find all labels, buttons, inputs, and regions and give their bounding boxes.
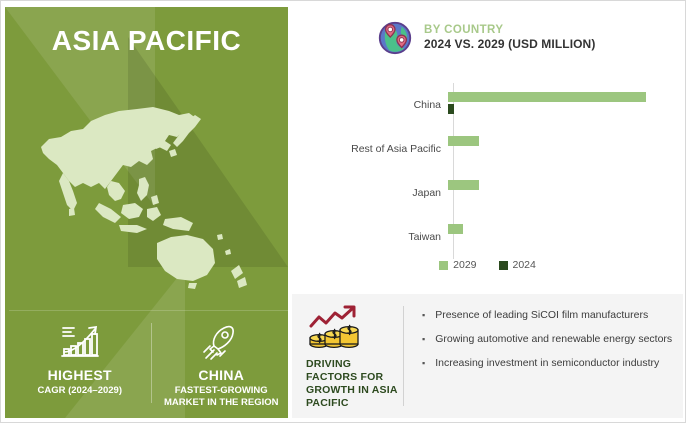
list-item-text: Increasing investment in semiconductor i…	[435, 356, 659, 370]
legend-item-2029[interactable]: 2029	[439, 259, 476, 271]
chart-header: BY COUNTRY 2024 VS. 2029 (USD MILLION)	[376, 19, 595, 57]
chart-legend: 2029 2024	[292, 259, 683, 271]
list-item: ▪ Growing automotive and renewable energ…	[422, 332, 673, 346]
bar-2029-japan	[448, 180, 479, 190]
bar-chart-growth-icon	[57, 321, 103, 363]
driving-factors-list: ▪ Presence of leading SiCOI film manufac…	[404, 294, 683, 418]
country-bar-chart: China Rest of Asia Pacific Japan	[292, 79, 683, 279]
bar-2029-china	[448, 92, 646, 102]
bar-track	[447, 215, 673, 259]
chart-panel: BY COUNTRY 2024 VS. 2029 (USD MILLION) C…	[292, 7, 683, 418]
driving-factors-heading: DRIVING FACTORS FOR GROWTH IN ASIA PACIF…	[292, 294, 404, 418]
list-item-text: Presence of leading SiCOI film manufactu…	[435, 308, 648, 322]
chart-subtitle: 2024 VS. 2029 (USD MILLION)	[424, 38, 595, 52]
bar-row-japan: Japan	[292, 171, 683, 215]
driving-factors-section: DRIVING FACTORS FOR GROWTH IN ASIA PACIF…	[292, 294, 683, 418]
category-label: Taiwan	[292, 231, 447, 243]
bar-row-taiwan: Taiwan	[292, 215, 683, 259]
chart-kicker: BY COUNTRY	[424, 24, 595, 37]
stat-title: CHINA	[198, 367, 244, 383]
bar-row-china: China	[292, 83, 683, 127]
infographic-root: ASIA PACIFIC	[0, 0, 686, 423]
stat-subtitle: FASTEST-GROWING MARKET IN THE REGION	[161, 385, 281, 409]
panel-divider	[9, 310, 288, 311]
legend-swatch-2029	[439, 261, 448, 270]
list-item: ▪ Increasing investment in semiconductor…	[422, 356, 673, 370]
coins-growth-arrow-icon	[306, 304, 362, 352]
bar-track	[447, 171, 673, 215]
stat-title: HIGHEST	[48, 367, 112, 383]
bar-track	[447, 127, 673, 171]
bar-2029-taiwan	[448, 224, 463, 234]
bullet-icon: ▪	[422, 356, 425, 370]
asia-pacific-map-icon	[19, 85, 277, 290]
category-label: China	[292, 99, 447, 111]
bullet-icon: ▪	[422, 308, 425, 322]
list-item: ▪ Presence of leading SiCOI film manufac…	[422, 308, 673, 322]
bullet-icon: ▪	[422, 332, 425, 346]
stat-fastest-growing-china: CHINA FASTEST-GROWING MARKET IN THE REGI…	[151, 315, 289, 418]
bar-track	[447, 83, 673, 127]
region-panel: ASIA PACIFIC	[5, 7, 288, 418]
category-label: Japan	[292, 187, 447, 199]
legend-swatch-2024	[499, 261, 508, 270]
bar-2029-rest-of-asia-pacific	[448, 136, 479, 146]
list-item-text: Growing automotive and renewable energy …	[435, 332, 672, 346]
legend-label: 2029	[453, 259, 476, 271]
globe-pin-icon	[376, 19, 414, 57]
legend-item-2024[interactable]: 2024	[499, 259, 536, 271]
rocket-icon	[200, 321, 242, 363]
driving-factors-title: DRIVING FACTORS FOR GROWTH IN ASIA PACIF…	[306, 358, 400, 410]
region-title: ASIA PACIFIC	[5, 25, 288, 57]
bar-2024-china	[448, 104, 454, 114]
region-stats: HIGHEST CAGR (2024–2029)	[9, 315, 288, 418]
legend-label: 2024	[513, 259, 536, 271]
bar-row-rest-of-asia-pacific: Rest of Asia Pacific	[292, 127, 683, 171]
stat-highest-cagr: HIGHEST CAGR (2024–2029)	[9, 315, 151, 418]
stat-subtitle: CAGR (2024–2029)	[38, 385, 123, 397]
category-label: Rest of Asia Pacific	[292, 143, 447, 155]
